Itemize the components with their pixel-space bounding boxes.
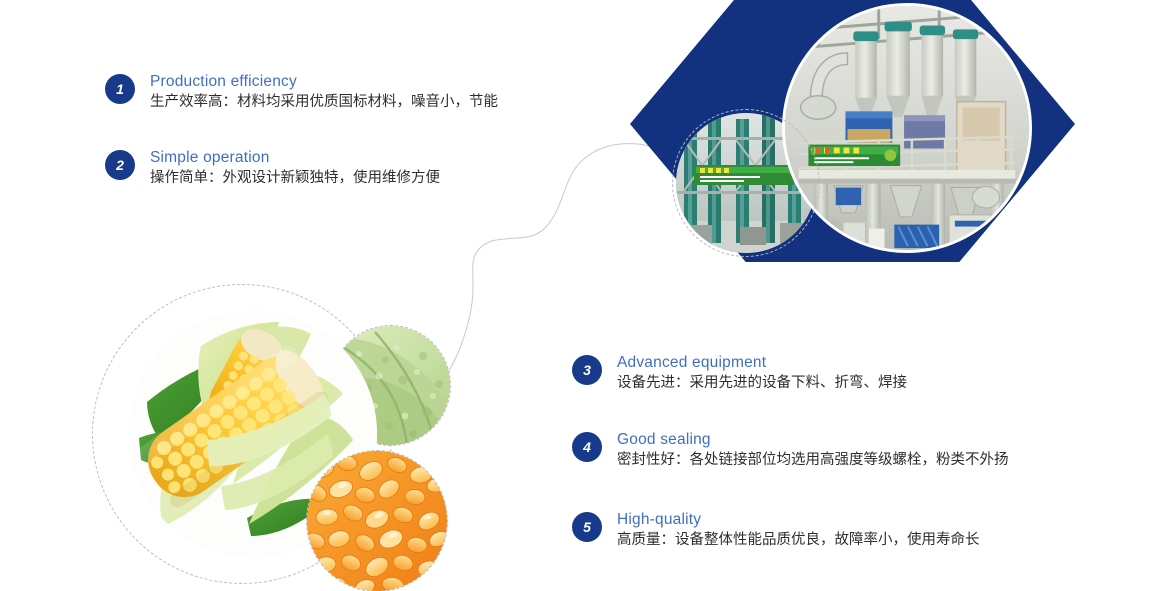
feature-heading-2: Simple operation	[150, 148, 440, 167]
feature-item-4: 4 Good sealing 密封性好：各处链接部位均选用高强度等级螺栓，粉类不…	[572, 430, 1009, 471]
flour-milling-plant-photo	[782, 3, 1032, 253]
feature-heading-3: Advanced equipment	[617, 353, 907, 372]
feature-text-2: Simple operation 操作简单：外观设计新颖独特，使用维修方便	[150, 148, 440, 189]
feature-number-badge-4: 4	[572, 432, 602, 462]
feature-body-1: 生产效率高：材料均采用优质国标材料，噪音小，节能	[150, 92, 498, 113]
feature-text-5: High-quality 高质量：设备整体性能品质优良，故障率小，使用寿命长	[617, 510, 980, 551]
feature-number-badge-3: 3	[572, 355, 602, 385]
feature-item-1: 1 Production efficiency 生产效率高：材料均采用优质国标材…	[105, 72, 498, 113]
feature-body-4: 密封性好：各处链接部位均选用高强度等级螺栓，粉类不外扬	[617, 450, 1009, 471]
feature-number-badge-5: 5	[572, 512, 602, 542]
feature-body-2: 操作简单：外观设计新颖独特，使用维修方便	[150, 168, 440, 189]
feature-text-3: Advanced equipment 设备先进：采用先进的设备下料、折弯、焊接	[617, 353, 907, 394]
feature-text-4: Good sealing 密封性好：各处链接部位均选用高强度等级螺栓，粉类不外扬	[617, 430, 1009, 471]
corn-kernels-dashed-ring	[306, 450, 448, 591]
feature-number-badge-2: 2	[105, 150, 135, 180]
feature-body-3: 设备先进：采用先进的设备下料、折弯、焊接	[617, 373, 907, 394]
feature-showcase-page: 1 Production efficiency 生产效率高：材料均采用优质国标材…	[0, 0, 1154, 591]
feature-heading-4: Good sealing	[617, 430, 1009, 449]
feature-item-2: 2 Simple operation 操作简单：外观设计新颖独特，使用维修方便	[105, 148, 440, 189]
feature-number-badge-1: 1	[105, 74, 135, 104]
feature-item-3: 3 Advanced equipment 设备先进：采用先进的设备下料、折弯、焊…	[572, 353, 907, 394]
feature-item-5: 5 High-quality 高质量：设备整体性能品质优良，故障率小，使用寿命长	[572, 510, 980, 551]
feature-body-5: 高质量：设备整体性能品质优良，故障率小，使用寿命长	[617, 530, 980, 551]
feature-text-1: Production efficiency 生产效率高：材料均采用优质国标材料，…	[150, 72, 498, 113]
feature-heading-1: Production efficiency	[150, 72, 498, 91]
feature-heading-5: High-quality	[617, 510, 980, 529]
